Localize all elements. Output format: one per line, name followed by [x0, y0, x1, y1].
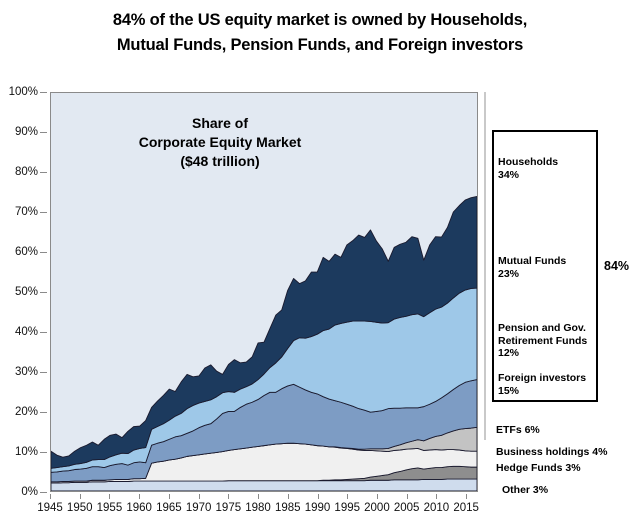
x-tick-mark: [466, 494, 467, 499]
x-tick-mark: [318, 494, 319, 499]
x-tick-mark: [169, 494, 170, 499]
x-tick-mark: [199, 494, 200, 499]
legend-label-foreign-investors: Foreign investors: [498, 372, 586, 385]
y-tick-mark: [40, 92, 47, 93]
y-tick-label-20: 20%: [15, 406, 38, 418]
y-tick-label-0: 0%: [21, 486, 38, 498]
x-tick-mark: [436, 494, 437, 499]
legend-label-pension-funds-1: Pension and Gov.: [498, 322, 587, 335]
x-tick-label-1970: 1970: [186, 502, 212, 514]
legend-item-other: Other 3%: [502, 484, 548, 497]
page-title: 84% of the US equity market is owned by …: [0, 8, 640, 58]
x-tick-mark: [50, 494, 51, 499]
x-tick-label-1955: 1955: [97, 502, 123, 514]
y-tick-label-80: 80%: [15, 166, 38, 178]
y-tick-label-30: 30%: [15, 366, 38, 378]
legend-divider-rule: [484, 92, 486, 440]
total-share-badge: 84%: [604, 259, 629, 273]
y-tick-label-70: 70%: [15, 206, 38, 218]
x-tick-label-1995: 1995: [334, 502, 360, 514]
y-tick-mark: [40, 452, 47, 453]
x-tick-label-1990: 1990: [305, 502, 331, 514]
x-tick-mark: [288, 494, 289, 499]
legend-label-mutual-funds: Mutual Funds: [498, 255, 566, 268]
legend-item-business-holdings: Business holdings 4%: [496, 446, 607, 459]
x-tick-mark: [258, 494, 259, 499]
legend-item-etfs: ETFs 6%: [496, 424, 540, 437]
annotation-line-2: Corporate Equity Market: [105, 133, 335, 152]
x-tick-mark: [139, 494, 140, 499]
title-line-1: 84% of the US equity market is owned by …: [0, 8, 640, 33]
y-tick-mark: [40, 212, 47, 213]
legend-item-households: Households 34%: [498, 156, 558, 181]
x-tick-label-1975: 1975: [216, 502, 242, 514]
x-tick-mark: [347, 494, 348, 499]
y-tick-mark: [40, 292, 47, 293]
x-tick-mark: [407, 494, 408, 499]
x-tick-label-1980: 1980: [245, 502, 271, 514]
y-tick-label-60: 60%: [15, 246, 38, 258]
x-tick-label-1965: 1965: [156, 502, 182, 514]
y-axis: 0%10%20%30%40%50%60%70%80%90%100%: [0, 84, 48, 500]
x-tick-label-2015: 2015: [453, 502, 479, 514]
x-tick-label-2000: 2000: [364, 502, 390, 514]
legend-label-households: Households: [498, 156, 558, 169]
title-line-2: Mutual Funds, Pension Funds, and Foreign…: [0, 33, 640, 58]
x-tick-label-1985: 1985: [275, 502, 301, 514]
y-tick-label-10: 10%: [15, 446, 38, 458]
legend-box: Households 34% Mutual Funds 23% Pension …: [492, 130, 598, 402]
x-axis: 1945195019551960196519701975198019851990…: [50, 494, 480, 520]
x-tick-mark: [109, 494, 110, 499]
chart-annotation: Share of Corporate Equity Market ($48 tr…: [105, 114, 335, 171]
legend-item-pension-funds: Pension and Gov. Retirement Funds 12%: [498, 322, 587, 360]
annotation-line-1: Share of: [105, 114, 335, 133]
y-tick-label-50: 50%: [15, 286, 38, 298]
x-tick-label-1950: 1950: [67, 502, 93, 514]
y-tick-mark: [40, 372, 47, 373]
legend-item-hedge-funds: Hedge Funds 3%: [496, 462, 581, 475]
x-tick-mark: [80, 494, 81, 499]
y-tick-label-90: 90%: [15, 126, 38, 138]
legend-value-pension-funds: 12%: [498, 347, 587, 360]
legend-item-foreign-investors: Foreign investors 15%: [498, 372, 586, 397]
legend-value-mutual-funds: 23%: [498, 268, 566, 281]
x-tick-label-1960: 1960: [126, 502, 152, 514]
y-tick-mark: [40, 172, 47, 173]
y-tick-label-100: 100%: [9, 86, 38, 98]
y-tick-mark: [40, 412, 47, 413]
y-tick-mark: [40, 492, 47, 493]
y-tick-mark: [40, 132, 47, 133]
legend-value-foreign-investors: 15%: [498, 385, 586, 398]
legend-label-pension-funds-2: Retirement Funds: [498, 335, 587, 348]
x-tick-label-2005: 2005: [394, 502, 420, 514]
y-tick-label-40: 40%: [15, 326, 38, 338]
x-tick-mark: [377, 494, 378, 499]
annotation-line-3: ($48 trillion): [105, 152, 335, 171]
legend-item-mutual-funds: Mutual Funds 23%: [498, 255, 566, 280]
x-tick-mark: [228, 494, 229, 499]
x-tick-label-1945: 1945: [37, 502, 63, 514]
y-tick-mark: [40, 332, 47, 333]
x-tick-label-2010: 2010: [424, 502, 450, 514]
legend-value-households: 34%: [498, 169, 558, 182]
y-tick-mark: [40, 252, 47, 253]
